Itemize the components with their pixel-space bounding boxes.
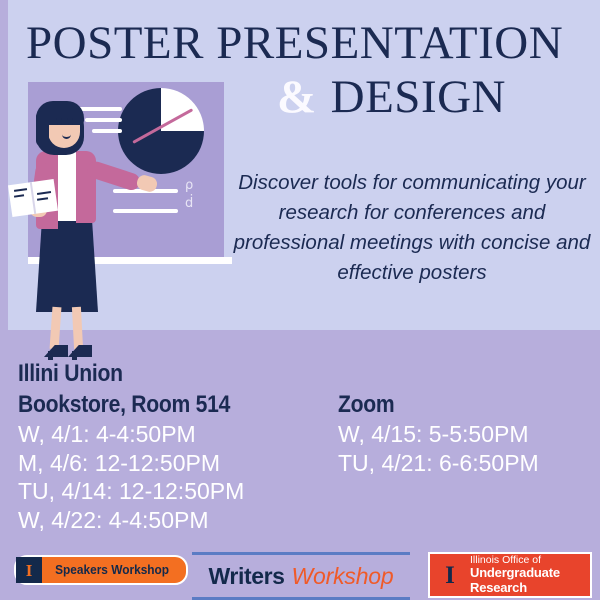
presenter-leg — [50, 307, 62, 350]
pie-chart-graphic — [118, 88, 204, 174]
board-glyph-icon: ρ — [185, 179, 193, 192]
session-time-row: TU, 4/14: 12-12:50PM — [18, 477, 244, 506]
presenter-hair-side — [36, 111, 49, 147]
venue-line: Bookstore, Room 514 — [18, 389, 230, 420]
poster-description: Discover tools for communicating your re… — [228, 168, 596, 288]
venue-line: Illini Union — [18, 358, 230, 389]
illinois-block-i-icon: I — [16, 557, 42, 583]
footer-logo-bar: I Speakers Workshop Writers Workshop I I… — [0, 548, 600, 600]
logo-undergraduate-research[interactable]: I Illinois Office of Undergraduate Resea… — [428, 552, 592, 598]
presenter-eyebrow — [56, 118, 62, 120]
board-text-line — [113, 209, 178, 213]
illinois-block-i-icon: I — [438, 561, 462, 589]
ampersand-glyph: & — [277, 71, 317, 123]
presenter-leg — [72, 307, 83, 349]
session-time-row: W, 4/22: 4-4:50PM — [18, 506, 244, 535]
logo-speakers-workshop-label: Speakers Workshop — [46, 563, 183, 577]
board-text-line — [78, 107, 122, 111]
session-time-row: TU, 4/21: 6-6:50PM — [338, 449, 539, 478]
logo-undergraduate-research-text: Illinois Office of Undergraduate Researc… — [470, 555, 590, 596]
session-times-zoom: W, 4/15: 5-5:50PM TU, 4/21: 6-6:50PM — [338, 420, 539, 477]
title-design-word: DESIGN — [331, 71, 506, 123]
session-times-in-person: W, 4/1: 4-4:50PM M, 4/6: 12-12:50PM TU, … — [18, 420, 244, 534]
presenter-eyebrow — [67, 118, 73, 120]
presenter-illustration: ρ ḋ — [0, 75, 232, 360]
session-time-row: W, 4/1: 4-4:50PM — [18, 420, 244, 449]
board-text-line — [92, 129, 122, 133]
presenter-eye — [68, 123, 73, 125]
poster-title-line1: POSTER PRESENTATION — [26, 18, 563, 68]
session-time-row: M, 4/6: 12-12:50PM — [18, 449, 244, 478]
logo-writers-word: Writers — [209, 563, 285, 590]
venue-line: Zoom — [338, 389, 394, 420]
presenter-eye — [57, 123, 62, 125]
poster-canvas: POSTER PRESENTATION &DESIGN Discover too… — [0, 0, 600, 600]
logo-writers-workshop[interactable]: Writers Workshop — [192, 552, 410, 600]
poster-title-line2: &DESIGN — [277, 72, 506, 122]
logo-workshop-word: Workshop — [292, 563, 394, 590]
logo-unit-line: Undergraduate Research — [470, 566, 590, 595]
presenter-skirt — [36, 216, 98, 312]
logo-speakers-workshop[interactable]: I Speakers Workshop — [14, 555, 188, 585]
session-time-row: W, 4/15: 5-5:50PM — [338, 420, 539, 449]
board-text-line — [85, 118, 122, 122]
board-glyph-icon: ḋ — [185, 197, 193, 210]
venue-title-zoom: Zoom — [338, 389, 394, 420]
venue-title-in-person: Illini Union Bookstore, Room 514 — [18, 358, 230, 420]
